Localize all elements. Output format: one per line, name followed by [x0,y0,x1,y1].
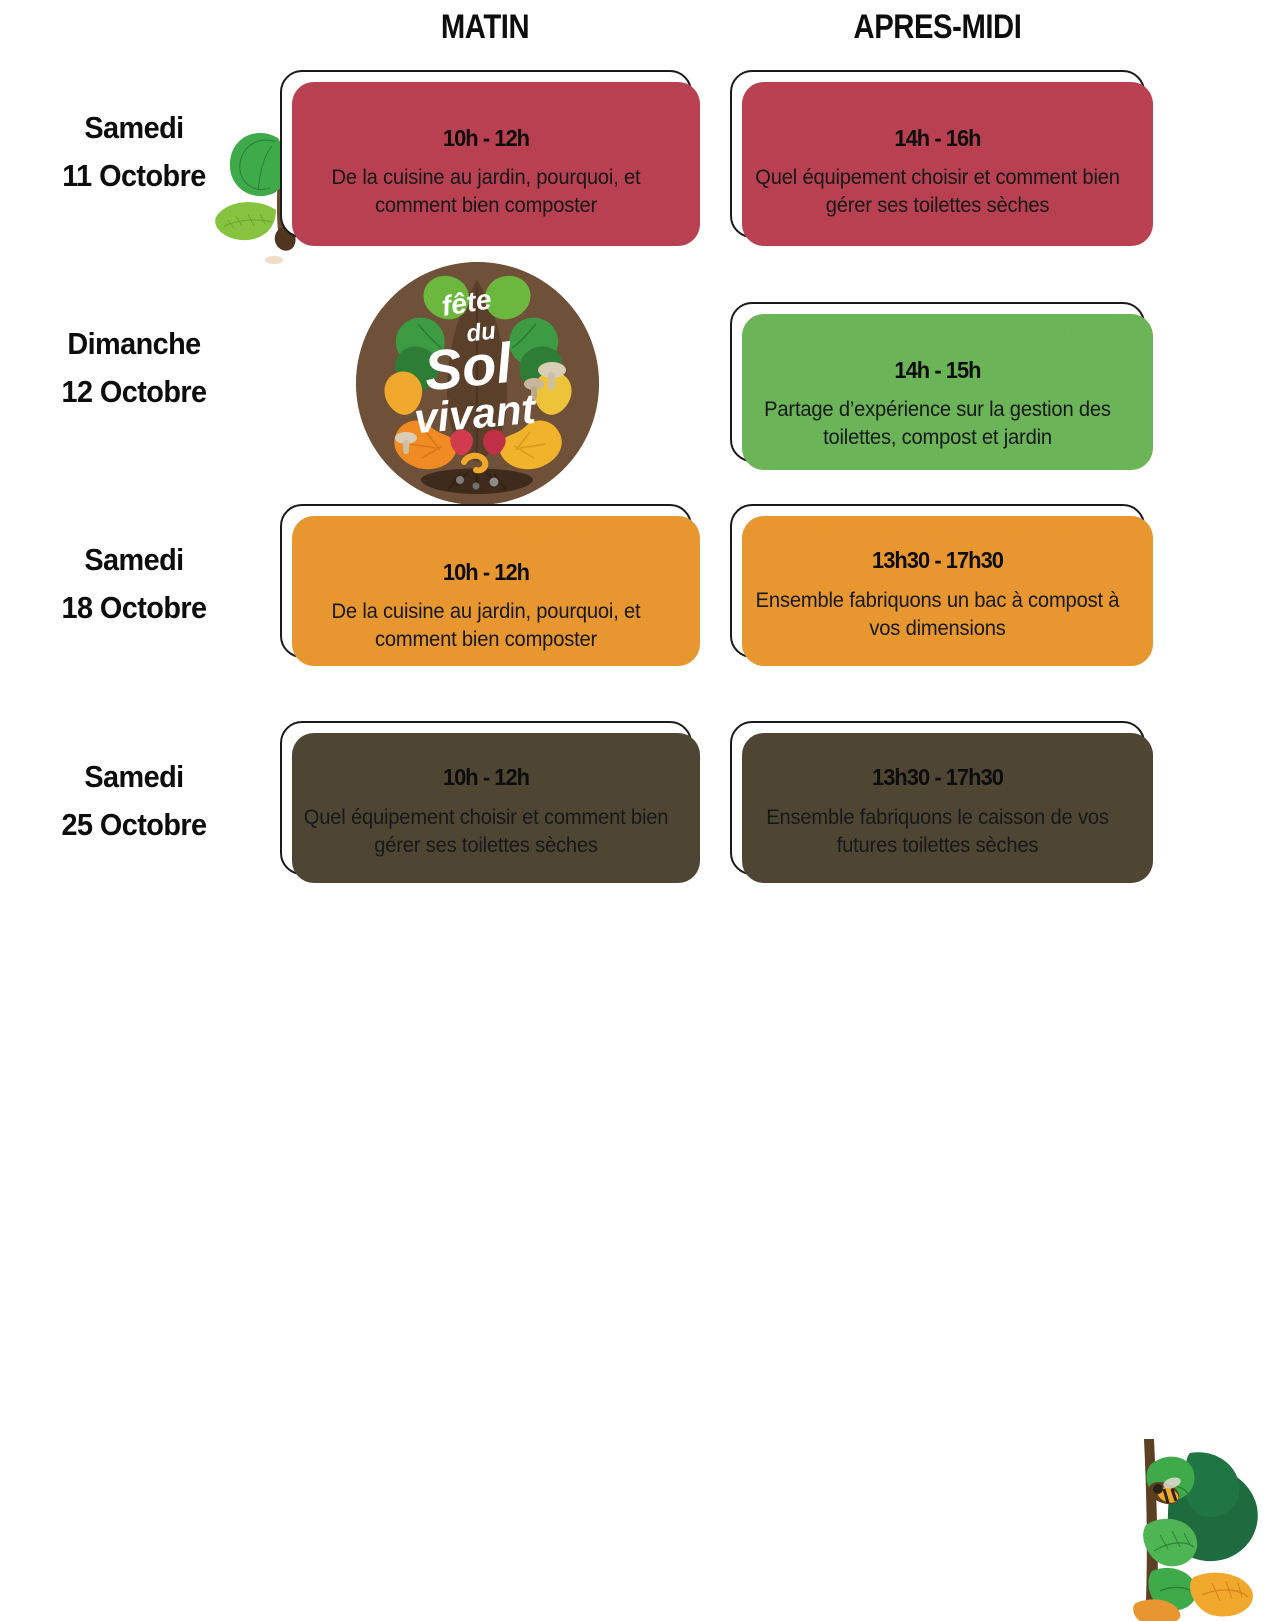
schedule-row: Samedi 18 Octobre Formation Compostage 1… [0,498,1280,678]
session-title: Formation Compostage [306,516,667,546]
session-description: Quel équipement choisir et comment bien … [754,164,1122,221]
session-card[interactable]: Formation Toilettes Sèches 14h - 16h Que… [730,70,1145,238]
schedule-row: Dimanche 12 Octobre [0,280,1280,475]
session-description: De la cuisine au jardin, pourquoi, et co… [304,598,669,655]
session-time: 14h - 15h [756,357,1120,385]
session-title: Formation Compostage [306,82,667,112]
programme-poster: MATIN APRES-MIDI Samedi 11 Octobre Forma… [0,0,1280,905]
day-label: Samedi 18 Octobre [9,536,258,632]
column-header-apres-midi: APRES-MIDI [759,8,1116,47]
session-description: Partage d’expérience sur la gestion des … [754,396,1122,453]
session-time: 14h - 16h [756,125,1120,153]
day-date: 11 Octobre [9,152,258,200]
session-description: Ensemble fabriquons un bac à compost à v… [754,587,1122,644]
session-title: Formation Toilettes sèches [306,733,667,763]
session-title: Fabrication Toilettes sèches [756,733,1120,763]
session-time: 10h - 12h [306,559,667,587]
session-card[interactable]: Formation Compostage 10h - 12h De la cui… [280,504,692,658]
session-title: Fabrication composteur [756,516,1120,546]
day-of-week: Dimanche [9,320,258,368]
session-time: 13h30 - 17h30 [756,547,1120,575]
day-of-week: Samedi [9,104,258,152]
schedule-row: Samedi 25 Octobre Formation Toilettes sè… [0,715,1280,895]
session-description: De la cuisine au jardin, pourquoi, et co… [304,164,669,221]
session-card[interactable]: Formation Toilettes sèches 10h - 12h Que… [280,721,692,875]
session-time: 10h - 12h [306,764,667,792]
day-label: Samedi 25 Octobre [9,753,258,849]
session-title: Visite de toilettes et jardin [756,314,1120,344]
session-card[interactable]: Fabrication composteur 13h30 - 17h30 Ens… [730,504,1145,658]
session-time: 10h - 12h [306,125,667,153]
day-label: Dimanche 12 Octobre [9,320,258,416]
session-description: Ensemble fabriquons le caisson de vos fu… [754,804,1122,861]
day-of-week: Samedi [9,753,258,801]
session-title: Formation Toilettes Sèches [756,82,1120,112]
session-card[interactable]: Formation Compostage 10h - 12h De la cui… [280,70,692,238]
column-header-matin: MATIN [309,8,662,47]
day-date: 18 Octobre [9,584,258,632]
day-date: 12 Octobre [9,368,258,416]
day-label: Samedi 11 Octobre [9,104,258,200]
session-description: Quel équipement choisir et comment bien … [304,804,669,861]
schedule-row: Samedi 11 Octobre Formation Compostage 1… [0,62,1280,257]
leaves-bee-icon [1128,1431,1280,1621]
day-date: 25 Octobre [9,801,258,849]
day-of-week: Samedi [9,536,258,584]
fete-du-sol-vivant-logo: fête du Sol vivant [356,262,599,505]
session-card[interactable]: Fabrication Toilettes sèches 13h30 - 17h… [730,721,1145,875]
column-headers: MATIN APRES-MIDI [0,8,1280,60]
session-card[interactable]: Visite de toilettes et jardin 14h - 15h … [730,302,1145,462]
session-time: 13h30 - 17h30 [756,764,1120,792]
